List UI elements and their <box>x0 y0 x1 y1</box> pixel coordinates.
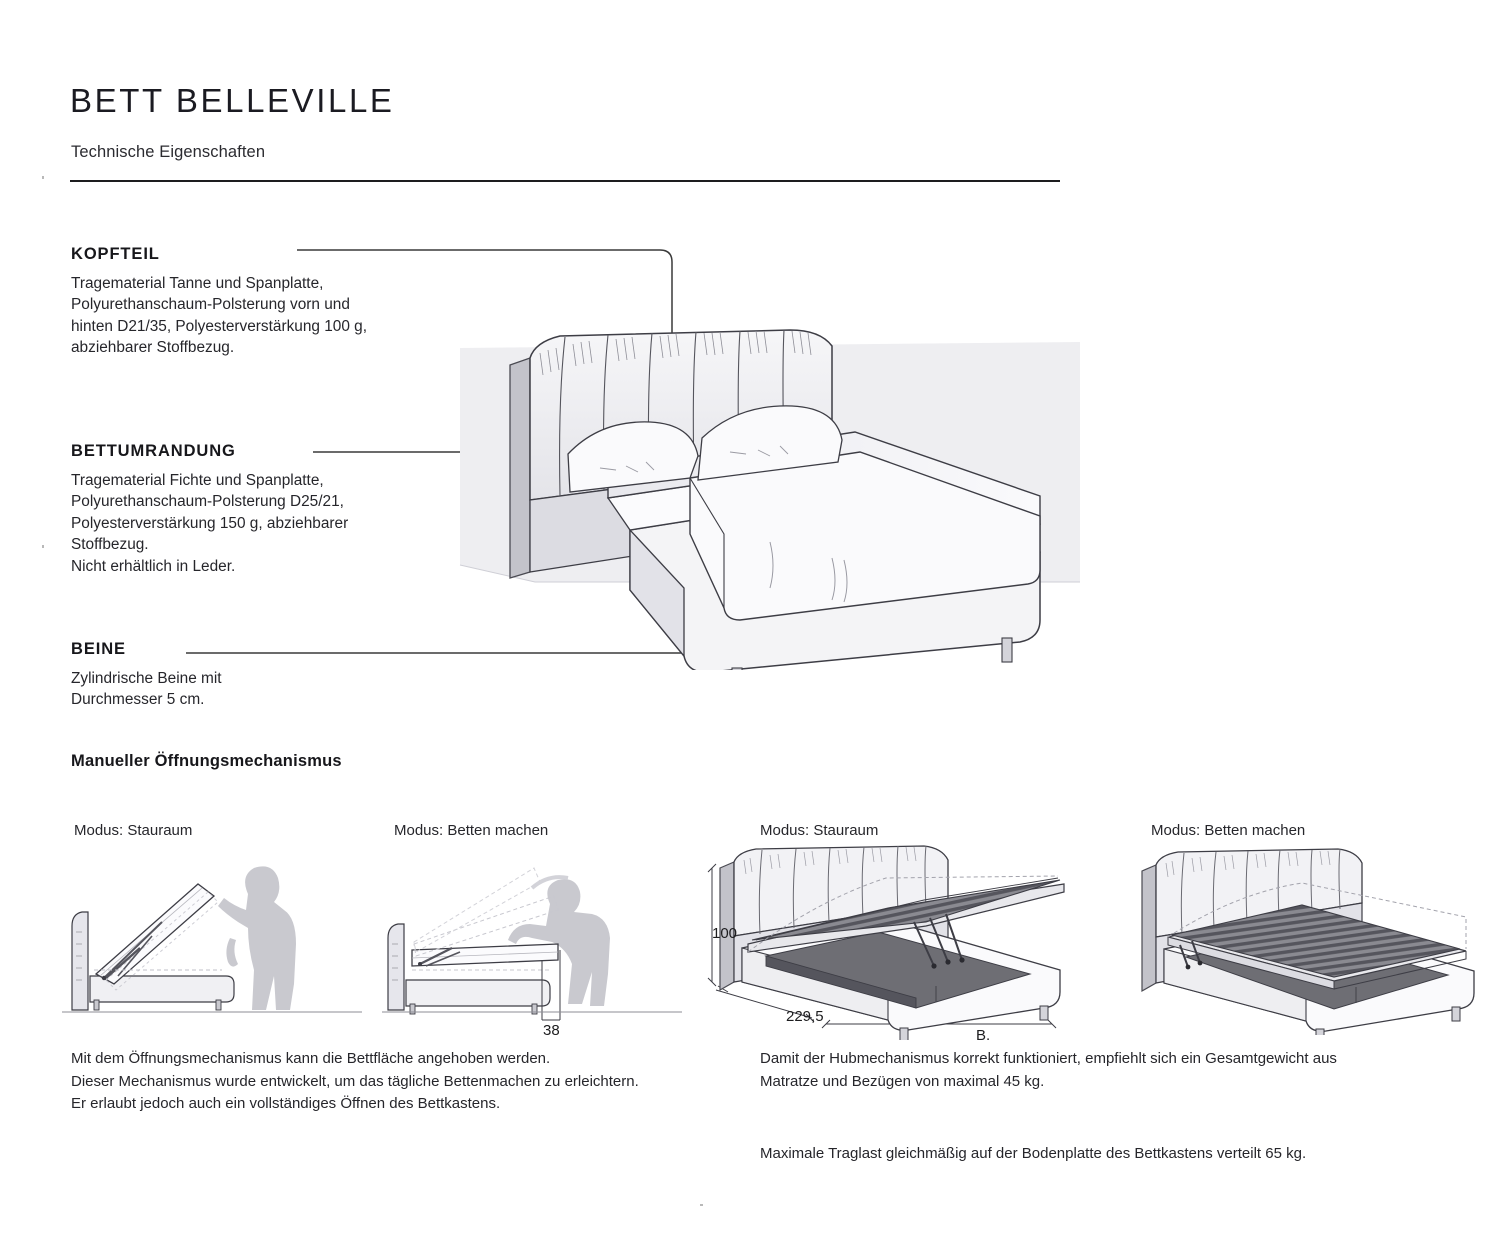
page-subtitle: Technische Eigenschaften <box>71 143 265 162</box>
diagram-caption-2: Modus: Betten machen <box>394 822 548 839</box>
dimension-height: 100 <box>712 925 737 942</box>
crop-mark-middle <box>42 545 44 548</box>
header-rule <box>70 180 1060 182</box>
note-right-weight: Damit der Hubmechanismus korrekt funktio… <box>760 1048 1430 1093</box>
diagram-caption-1: Modus: Stauraum <box>74 822 192 839</box>
crop-mark-top <box>42 176 44 179</box>
note-right-load: Maximale Traglast gleichmäßig auf der Bo… <box>760 1143 1430 1166</box>
diagram-betten-machen-side <box>382 852 682 1022</box>
crop-mark-bottom <box>700 1204 703 1206</box>
diagram-betten-machen-3d <box>1130 845 1490 1035</box>
spec-body-bettumrandung: Tragematerial Fichte und Spanplatte, Pol… <box>71 470 431 577</box>
spec-block-kopfteil: KOPFTEIL Tragematerial Tanne und Spanpla… <box>71 245 431 359</box>
spec-block-beine: BEINE Zylindrische Beine mit Durchmesser… <box>71 640 431 711</box>
dimension-width: B. <box>976 1027 990 1044</box>
diagram-stauraum-3d <box>700 840 1100 1040</box>
spec-body-kopfteil: Tragematerial Tanne und Spanplatte, Poly… <box>71 273 431 359</box>
diagram-caption-3: Modus: Stauraum <box>760 822 878 839</box>
spec-body-beine: Zylindrische Beine mit Durchmesser 5 cm. <box>71 668 431 711</box>
spec-heading-beine: BEINE <box>71 640 431 659</box>
mechanism-heading: Manueller Öffnungsmechanismus <box>71 752 342 771</box>
document-page: BETT BELLEVILLE Technische Eigenschaften… <box>0 0 1500 1250</box>
dimension-length: 229,5 <box>786 1008 824 1025</box>
diagram-caption-4: Modus: Betten machen <box>1151 822 1305 839</box>
diagram-stauraum-side <box>62 852 362 1022</box>
spec-heading-bettumrandung: BETTUMRANDUNG <box>71 442 431 461</box>
bed-illustration-main <box>440 320 1080 670</box>
dimension-lift-height: 38 <box>543 1022 560 1039</box>
page-title: BETT BELLEVILLE <box>70 82 395 120</box>
spec-heading-kopfteil: KOPFTEIL <box>71 245 431 264</box>
spec-block-bettumrandung: BETTUMRANDUNG Tragematerial Fichte und S… <box>71 442 431 577</box>
note-left: Mit dem Öffnungsmechanismus kann die Bet… <box>71 1048 771 1116</box>
